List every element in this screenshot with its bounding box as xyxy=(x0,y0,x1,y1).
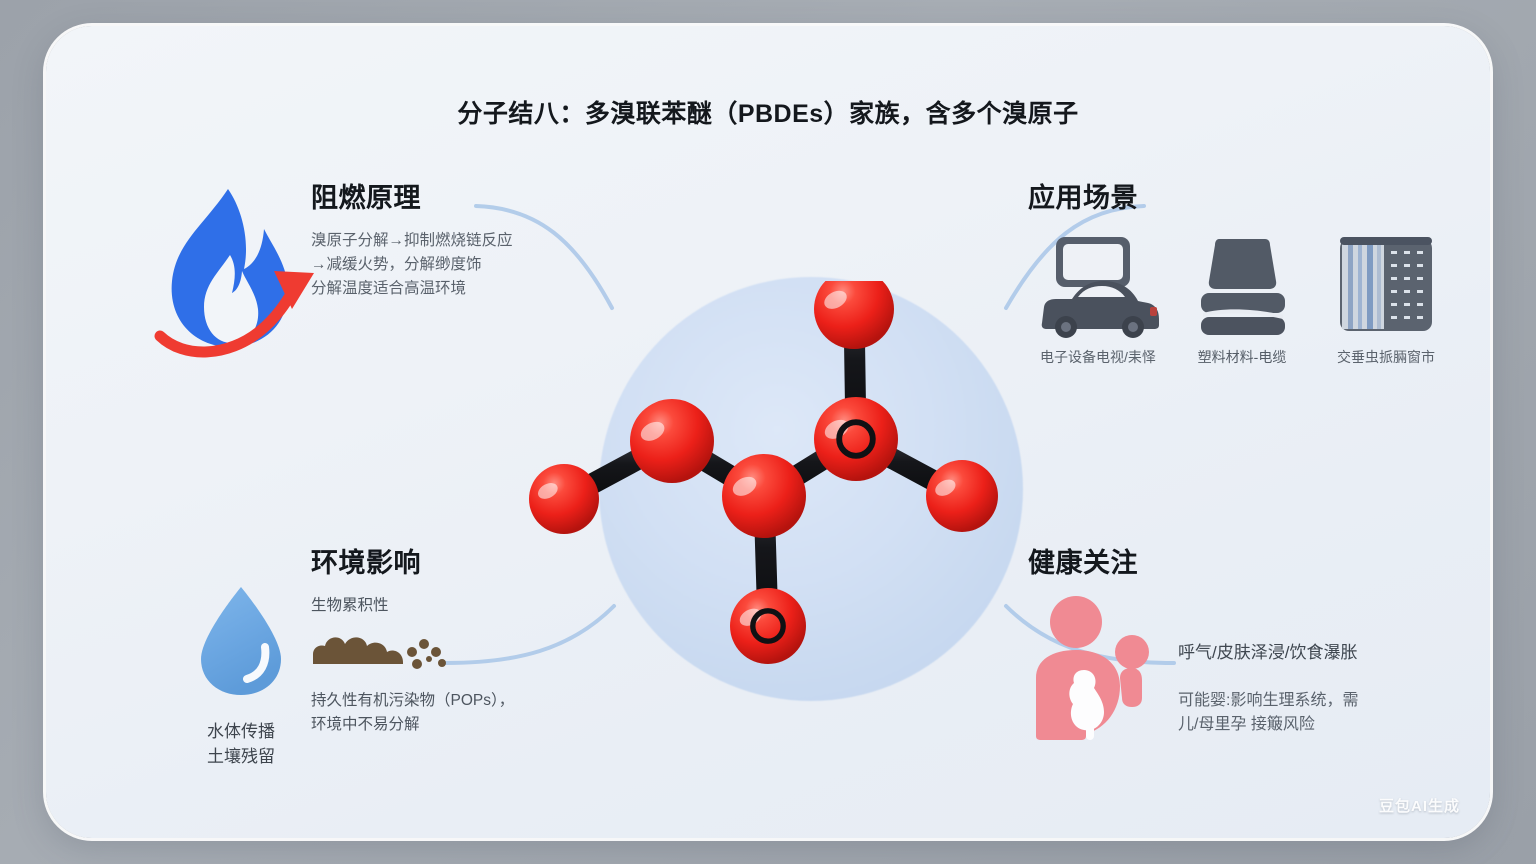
atom-a7 xyxy=(730,588,806,664)
atom-sphere xyxy=(730,588,806,664)
infographic-stage: 分子结八：多溴联苯醚（PBDEs）家族，含多个溴原子 xyxy=(0,0,1536,864)
section-environment: 环境影响 生物累积性 持久性有机污染物（POPs）， 环境中不易分解 xyxy=(311,541,641,737)
soil-particles-icon xyxy=(311,628,451,670)
adult-holding-baby-icon xyxy=(1028,594,1158,744)
flame-heading: 阻燃原理 xyxy=(311,176,641,215)
curtain-textile-icon xyxy=(1316,229,1456,339)
application-item-electronics: 电子设备电视/耒怿 xyxy=(1028,229,1168,367)
flame-icon xyxy=(146,181,326,366)
health-risk-text: 可能婴:影响生理系统，需 儿/母里孕 接簸风险 xyxy=(1178,689,1358,737)
environment-body-text: 持久性有机污染物（POPs）， 环境中不易分解 xyxy=(311,689,641,737)
atom-a2 xyxy=(630,399,714,483)
atom-sphere xyxy=(926,460,998,532)
atom-a4 xyxy=(814,397,898,481)
application-item-textile: 交垂虫挀脼窗市 xyxy=(1316,229,1456,367)
section-health: 健康关注 呼气/皮肤泽浸/饮食瀑胀 可能婴:影响生理系统，需 儿/母里孕 接簸风… xyxy=(1028,541,1478,744)
watermark: 豆包AI生成 xyxy=(1379,795,1460,816)
atom-a6 xyxy=(926,460,998,532)
section-flame-retardant: 阻燃原理 溴原子分解→抑制燃烧链反应 →减缓火势，分解缈度饰 分解温度适合高温环… xyxy=(311,176,641,301)
application-caption-textile: 交垂虫挀脼窗市 xyxy=(1316,347,1456,367)
application-item-plastics: 塑料材料-电缆 xyxy=(1172,229,1312,367)
environment-lead-text: 生物累积性 xyxy=(311,594,641,618)
atom-sphere xyxy=(722,454,806,538)
tv-and-car-icon xyxy=(1028,229,1168,339)
atom-sphere xyxy=(814,397,898,481)
water-drop-icon xyxy=(189,581,293,701)
page-title: 分子结八：多溴联苯醚（PBDEs）家族，含多个溴原子 xyxy=(46,94,1490,130)
atom-sphere xyxy=(814,281,894,349)
content-card: 分子结八：多溴联苯醚（PBDEs）家族，含多个溴原子 xyxy=(46,26,1490,838)
section-application: 应用场景 xyxy=(1028,176,1458,367)
health-exposure-text: 呼气/皮肤泽浸/饮食瀑胀 xyxy=(1178,638,1358,663)
atom-sphere xyxy=(529,464,599,534)
atom-a1 xyxy=(529,464,599,534)
application-caption-electronics: 电子设备电视/耒怿 xyxy=(1028,347,1168,367)
application-heading: 应用场景 xyxy=(1028,176,1458,215)
application-icon-row: 电子设备电视/耒怿 塑料材料-电缆 xyxy=(1028,229,1458,367)
atom-a3 xyxy=(722,454,806,538)
flame-body-text: 溴原子分解→抑制燃烧链反应 →减缓火势，分解缈度饰 分解温度适合高温环境 xyxy=(311,229,641,301)
health-content-row: 呼气/皮肤泽浸/饮食瀑胀 可能婴:影响生理系统，需 儿/母里孕 接簸风险 xyxy=(1028,594,1478,744)
car-seat-icon xyxy=(1172,229,1312,339)
water-drop-caption: 水体传播 土壤残留 xyxy=(156,720,326,769)
health-text-block: 呼气/皮肤泽浸/饮食瀑胀 可能婴:影响生理系统，需 儿/母里孕 接簸风险 xyxy=(1178,594,1358,737)
water-drop-block: 水体传播 土壤残留 xyxy=(156,581,326,769)
application-caption-plastics: 塑料材料-电缆 xyxy=(1172,347,1312,367)
environment-heading: 环境影响 xyxy=(311,541,641,580)
atom-a5 xyxy=(814,281,894,349)
atom-sphere xyxy=(630,399,714,483)
health-heading: 健康关注 xyxy=(1028,541,1478,580)
